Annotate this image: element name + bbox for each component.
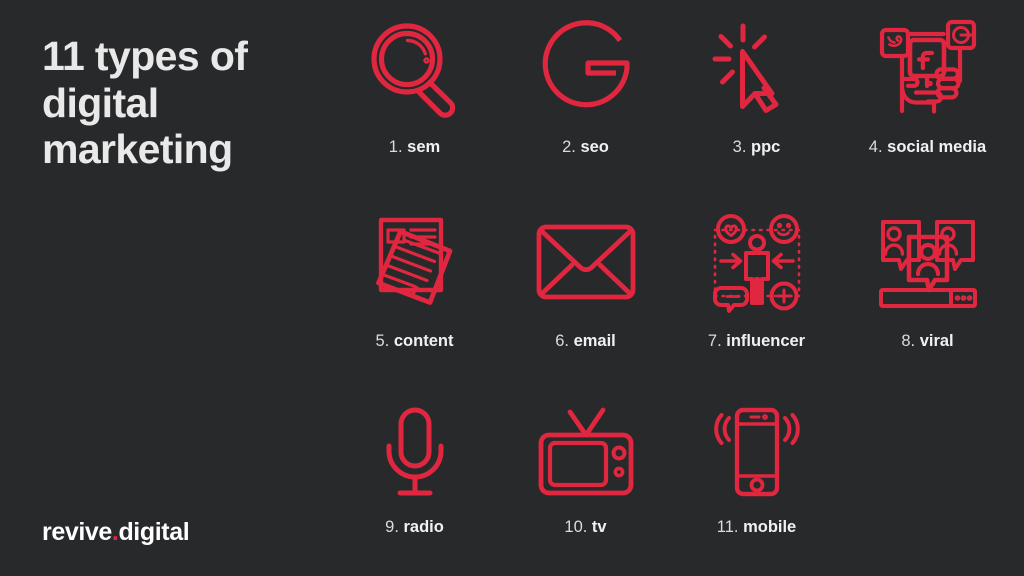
- list-item: 2. seo: [500, 12, 671, 206]
- item-caption: 9. radio: [385, 518, 444, 537]
- list-item: 10. tv: [500, 400, 671, 568]
- vibrating-phone-icon: [710, 400, 804, 504]
- item-caption: 2. seo: [562, 138, 609, 157]
- item-number: 10.: [564, 518, 587, 536]
- item-caption: 10. tv: [564, 518, 606, 537]
- person-engagement-icon-cell: 7. influencer: [671, 206, 842, 400]
- logo-part-digital: digital: [118, 518, 189, 547]
- brand-logo: revive.digital: [42, 518, 189, 547]
- item-label: seo: [580, 138, 608, 156]
- item-label: tv: [592, 518, 607, 536]
- item-caption: 4. social media: [869, 138, 986, 157]
- item-label: sem: [407, 138, 440, 156]
- list-item: 6. email: [500, 206, 671, 400]
- item-label: influencer: [726, 332, 805, 350]
- list-item: 9. radio: [329, 400, 500, 568]
- list-item: 8. viral: [842, 206, 1013, 400]
- list-item: 4. social media: [842, 12, 1013, 206]
- list-item: 11. mobile: [671, 400, 842, 568]
- item-label: mobile: [743, 518, 796, 536]
- item-caption: 11. mobile: [717, 518, 797, 537]
- list-item: 3. ppc: [671, 12, 842, 206]
- item-caption: 8. viral: [901, 332, 953, 351]
- person-engagement-icon: [705, 206, 809, 318]
- click-cursor-icon: [711, 12, 803, 124]
- item-label: email: [574, 332, 616, 350]
- microphone-icon: [379, 400, 451, 504]
- page-title: 11 types of digital marketing: [42, 33, 312, 173]
- item-number: 6.: [555, 332, 569, 350]
- envelope-icon: [536, 206, 636, 318]
- item-label: radio: [404, 518, 444, 536]
- item-number: 3.: [733, 138, 747, 156]
- item-number: 4.: [869, 138, 883, 156]
- speech-bubbles-avatars-icon: [877, 206, 979, 318]
- item-number: 2.: [562, 138, 576, 156]
- item-label: social media: [887, 138, 986, 156]
- grid-spacer: [842, 400, 1013, 568]
- item-caption: 1. sem: [389, 138, 440, 157]
- magnifier-icon: [367, 12, 463, 124]
- list-item: 1. sem: [329, 12, 500, 206]
- item-number: 11.: [717, 518, 739, 536]
- list-item: 5. content: [329, 206, 500, 400]
- item-caption: 7. influencer: [708, 332, 805, 351]
- item-label: content: [394, 332, 454, 350]
- item-caption: 6. email: [555, 332, 616, 351]
- google-g-icon: [536, 12, 636, 124]
- item-caption: 3. ppc: [733, 138, 781, 157]
- documents-icon: [364, 206, 466, 318]
- item-caption: 5. content: [376, 332, 454, 351]
- item-number: 8.: [901, 332, 915, 350]
- item-number: 1.: [389, 138, 403, 156]
- item-number: 5.: [376, 332, 390, 350]
- item-number: 9.: [385, 518, 399, 536]
- logo-part-revive: revive: [42, 518, 112, 547]
- item-label: viral: [920, 332, 954, 350]
- marketing-types-grid: 1. sem 2. seo: [329, 12, 1013, 568]
- hand-holding-social-signs-icon: [876, 12, 980, 124]
- television-icon: [537, 400, 635, 504]
- item-number: 7.: [708, 332, 722, 350]
- infographic-slide: 11 types of digital marketing revive.dig…: [0, 0, 1024, 576]
- item-label: ppc: [751, 138, 780, 156]
